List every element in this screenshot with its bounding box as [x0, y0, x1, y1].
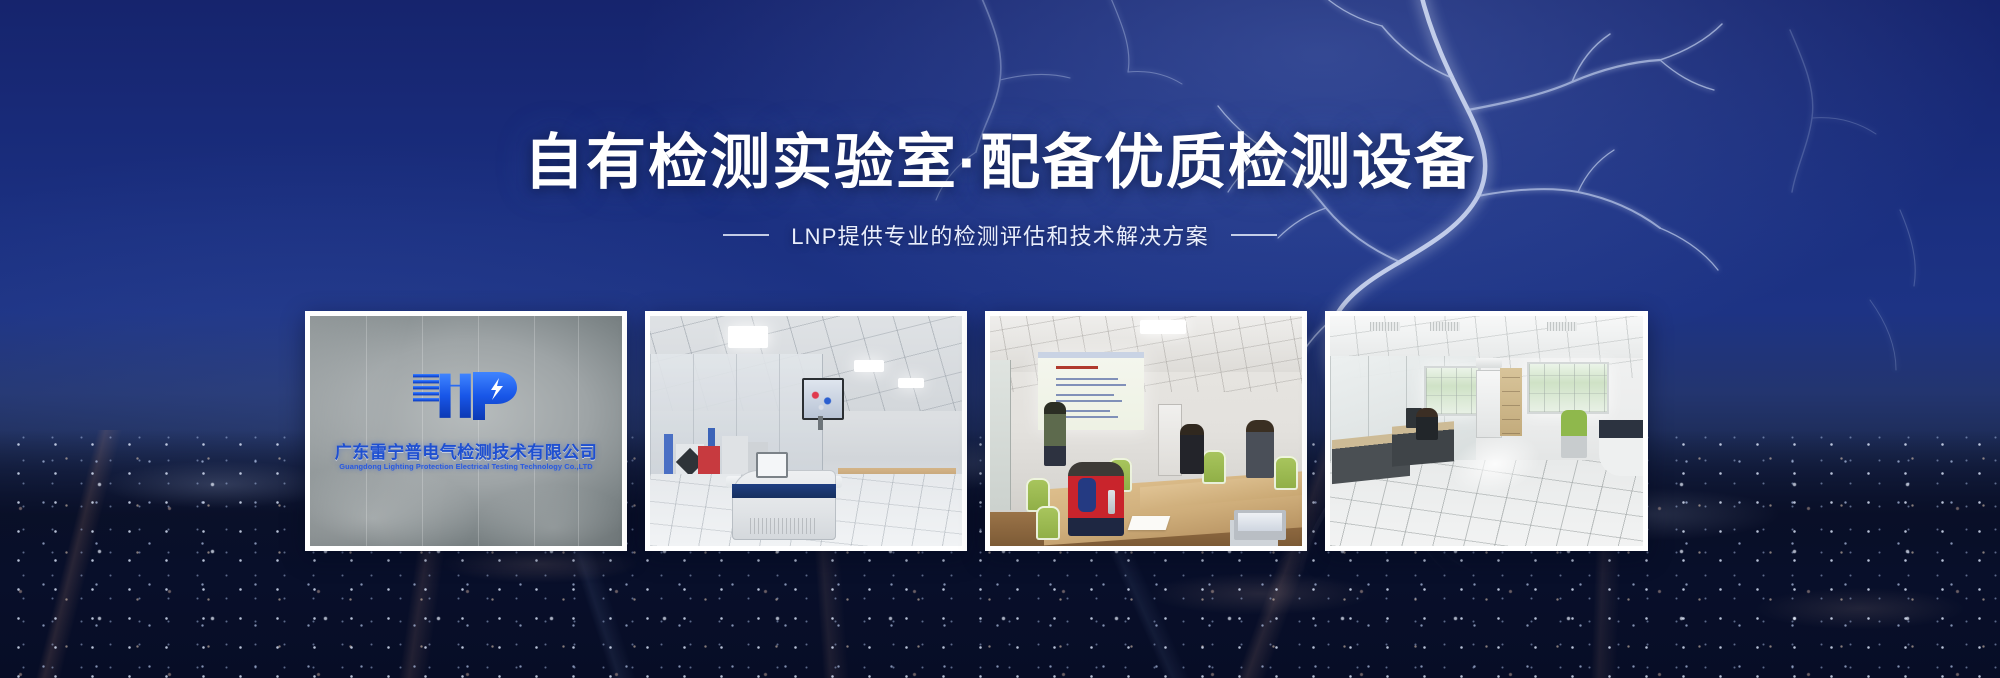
- hero-banner: 自有检测实验室·配备优质检测设备 LNP提供专业的检测评估和技术解决方案: [0, 0, 2000, 678]
- office-worker: [1416, 408, 1438, 440]
- page-title: 自有检测实验室·配备优质检测设备: [0, 128, 2000, 199]
- office-cabinet: [1476, 370, 1502, 438]
- photo-testing-laboratory: [650, 316, 962, 546]
- reception-counter: [1599, 420, 1643, 476]
- air-conditioner: [1476, 358, 1502, 368]
- gallery-card-signage[interactable]: 广东雷宁普电气检测技术有限公司 Guangdong Lighting Prote…: [305, 311, 627, 551]
- water-dispenser: [1158, 404, 1182, 476]
- page-subtitle: LNP提供专业的检测评估和技术解决方案: [791, 219, 1209, 251]
- photo-company-signage-wall: 广东雷宁普电气检测技术有限公司 Guangdong Lighting Prote…: [310, 316, 622, 546]
- office-shelf: [1500, 368, 1522, 436]
- presenter-person: [1044, 402, 1066, 466]
- attendee-person: [1068, 462, 1124, 536]
- gallery-card-office[interactable]: [1325, 311, 1648, 551]
- gallery-card-meeting-room[interactable]: [985, 311, 1307, 551]
- office-visitor-chair: [1561, 410, 1587, 458]
- photo-gallery: 广东雷宁普电气检测技术有限公司 Guangdong Lighting Prote…: [305, 311, 1648, 551]
- ceiling-light: [1140, 320, 1186, 334]
- headline-block: 自有检测实验室·配备优质检测设备 LNP提供专业的检测评估和技术解决方案: [0, 128, 2000, 251]
- dash-left-icon: [723, 234, 769, 236]
- subtitle-row: LNP提供专业的检测评估和技术解决方案: [0, 219, 2000, 251]
- attendee-person: [1246, 420, 1274, 478]
- photo-open-office: [1330, 316, 1643, 546]
- meeting-papers: [1128, 516, 1171, 530]
- meeting-laptop: [1234, 510, 1286, 540]
- lnp-logo-icon: [411, 368, 521, 426]
- signage-company-name-cn: 广东雷宁普电气检测技术有限公司: [335, 438, 598, 463]
- wall-sheen: [310, 316, 622, 546]
- dash-right-icon: [1231, 234, 1277, 236]
- attendee-person: [1180, 424, 1204, 474]
- meeting-door: [990, 360, 1011, 510]
- photo-training-meeting-room: [990, 316, 1302, 546]
- lab-monitor: [756, 452, 788, 478]
- signage-company-name-en: Guangdong Lighting Protection Electrical…: [339, 462, 592, 471]
- office-window: [1527, 362, 1609, 414]
- gallery-card-laboratory[interactable]: [645, 311, 967, 551]
- lab-wall-display: [802, 378, 844, 420]
